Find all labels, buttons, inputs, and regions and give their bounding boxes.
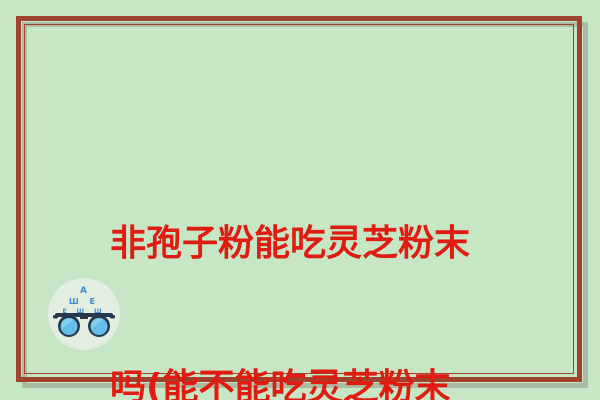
headline-line-2: 吗(能不能吃灵芝粉末	[110, 364, 500, 400]
headline-line-1: 非孢子粉能吃灵芝粉末	[110, 220, 500, 268]
eye-chart-row-1: A	[58, 287, 110, 296]
eyesight-glasses-icon: A Ш E E Ш Ш	[48, 278, 120, 350]
glasses-graphic	[53, 311, 115, 339]
eye-chart-row-2: Ш E	[58, 298, 110, 306]
headline-text: 非孢子粉能吃灵芝粉末 吗(能不能吃灵芝粉末 ，非孢子粉有影响？）	[110, 124, 500, 400]
poster-canvas: 非孢子粉能吃灵芝粉末 吗(能不能吃灵芝粉末 ，非孢子粉有影响？） A Ш E E…	[0, 0, 600, 400]
